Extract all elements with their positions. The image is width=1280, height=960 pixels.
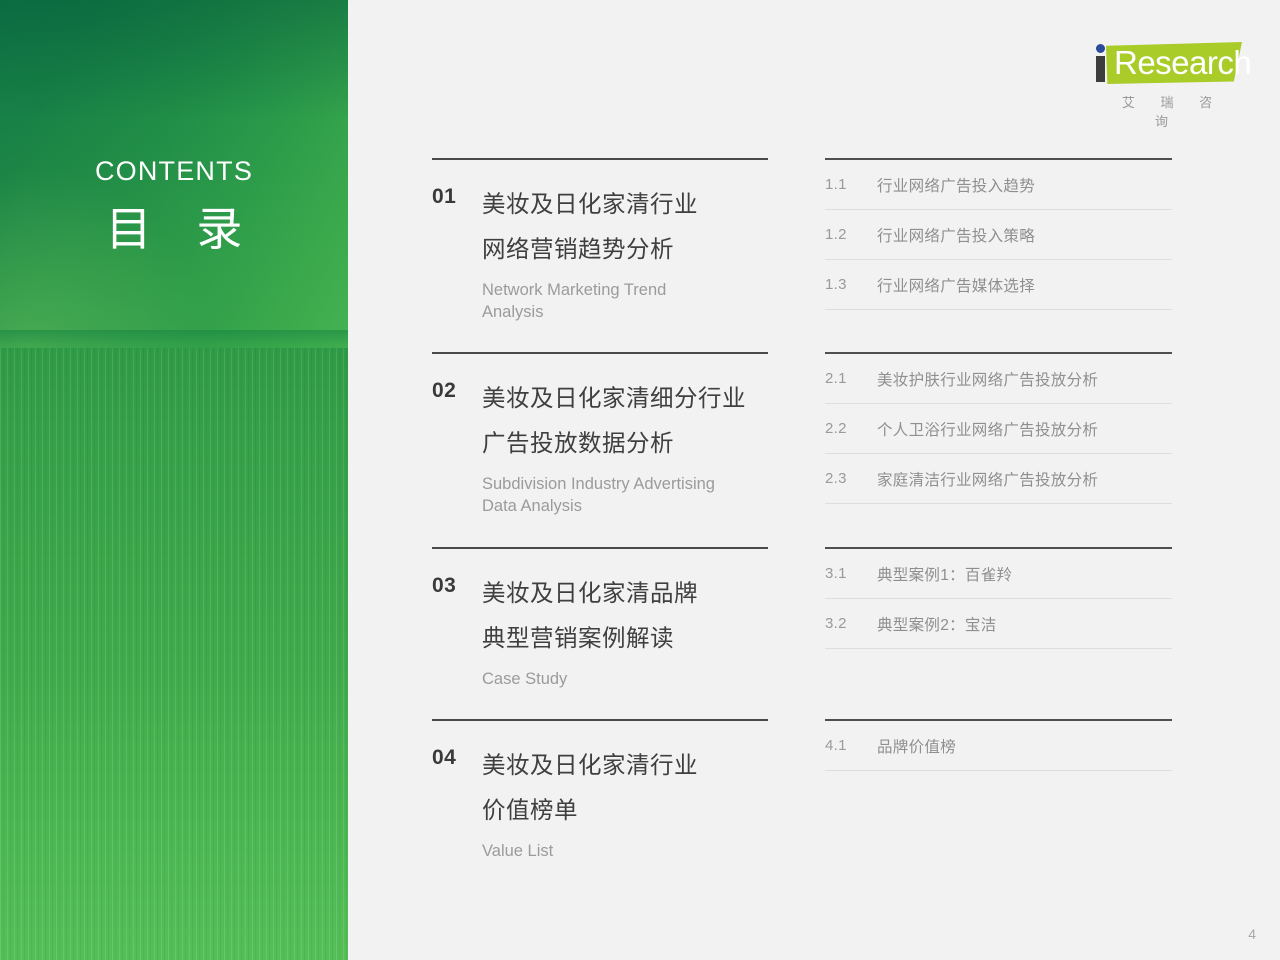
section-number: 04 [432, 743, 482, 862]
subitem-number: 1.1 [825, 176, 877, 193]
toc-section-02-items: 2.1 美妆护肤行业网络广告投放分析 2.2 个人卫浴行业网络广告投放分析 2.… [825, 352, 1172, 517]
contents-title-cn: 目 录 [0, 203, 348, 256]
toc-section-01-main[interactable]: 01 美妆及日化家清行业 网络营销趋势分析 Network Marketing … [432, 158, 768, 323]
logo-wordmark: Research [1114, 45, 1251, 81]
toc-subitem[interactable]: 2.1 美妆护肤行业网络广告投放分析 [825, 354, 1172, 404]
subitem-number: 2.1 [825, 370, 877, 387]
subitem-number: 1.2 [825, 226, 877, 243]
panel-top-shade [0, 0, 348, 120]
subitem-number: 2.3 [825, 470, 877, 487]
toc-section-03-main[interactable]: 03 美妆及日化家清品牌 典型营销案例解读 Case Study [432, 547, 768, 690]
subitem-label: 品牌价值榜 [877, 735, 956, 757]
section-number: 02 [432, 376, 482, 517]
table-of-contents: 01 美妆及日化家清行业 网络营销趋势分析 Network Marketing … [432, 158, 1172, 862]
toc-section-02-main[interactable]: 02 美妆及日化家清细分行业 广告投放数据分析 Subdivision Indu… [432, 352, 768, 517]
cover-green-panel: CONTENTS 目 录 [0, 0, 348, 960]
logo-i-dot-icon [1096, 44, 1105, 53]
toc-subitem[interactable]: 4.1 品牌价值榜 [825, 721, 1172, 771]
toc-subitem[interactable]: 3.2 典型案例2：宝洁 [825, 599, 1172, 649]
subitem-number: 2.2 [825, 420, 877, 437]
toc-section-04-items: 4.1 品牌价值榜 [825, 719, 1172, 862]
slide-root: CONTENTS 目 录 Research 艾 瑞 咨 询 01 美妆及日化家清… [0, 0, 1280, 960]
subitem-label: 家庭清洁行业网络广告投放分析 [877, 468, 1098, 490]
page-number: 4 [1248, 926, 1256, 942]
contents-title-block: CONTENTS 目 录 [0, 158, 348, 256]
toc-subitem[interactable]: 1.1 行业网络广告投入趋势 [825, 160, 1172, 210]
section-title-en-line1: Subdivision Industry Advertising [482, 473, 768, 495]
toc-section-03-items: 3.1 典型案例1：百雀羚 3.2 典型案例2：宝洁 [825, 547, 1172, 690]
contents-title-en: CONTENTS [0, 158, 348, 185]
section-title-cn-line1: 美妆及日化家清行业 [482, 743, 768, 788]
section-title-cn-line2: 网络营销趋势分析 [482, 227, 768, 272]
subitem-number: 3.1 [825, 565, 877, 582]
iresearch-logo: Research 艾 瑞 咨 询 [1092, 40, 1242, 118]
subitem-label: 行业网络广告投入趋势 [877, 174, 1035, 196]
toc-subitem[interactable]: 2.2 个人卫浴行业网络广告投放分析 [825, 404, 1172, 454]
section-title-en-line2: Data Analysis [482, 495, 768, 517]
toc-section-03: 03 美妆及日化家清品牌 典型营销案例解读 Case Study 3.1 典型案… [432, 547, 1172, 690]
section-title-cn-line2: 广告投放数据分析 [482, 421, 768, 466]
subitem-label: 典型案例1：百雀羚 [877, 563, 1012, 585]
subitem-number: 4.1 [825, 737, 877, 754]
pinstripe-pattern [0, 348, 348, 960]
logo-chinese-name: 艾 瑞 咨 询 [1092, 92, 1242, 130]
section-title-cn-line2: 价值榜单 [482, 788, 768, 833]
toc-subitem[interactable]: 1.2 行业网络广告投入策略 [825, 210, 1172, 260]
subitem-label: 行业网络广告投入策略 [877, 224, 1035, 246]
subitem-number: 1.3 [825, 276, 877, 293]
section-title-en-line2: Analysis [482, 301, 768, 323]
subitem-label: 个人卫浴行业网络广告投放分析 [877, 418, 1098, 440]
toc-section-02: 02 美妆及日化家清细分行业 广告投放数据分析 Subdivision Indu… [432, 352, 1172, 517]
section-title-en-line1: Network Marketing Trend [482, 279, 768, 301]
section-number: 01 [432, 182, 482, 323]
toc-section-04: 04 美妆及日化家清行业 价值榜单 Value List 4.1 品牌价值榜 [432, 719, 1172, 862]
logo-i-stem-icon [1096, 56, 1105, 82]
subitem-label: 典型案例2：宝洁 [877, 613, 997, 635]
section-number: 03 [432, 571, 482, 690]
toc-section-01-items: 1.1 行业网络广告投入趋势 1.2 行业网络广告投入策略 1.3 行业网络广告… [825, 158, 1172, 323]
logo-mark: Research [1092, 40, 1242, 86]
subitem-number: 3.2 [825, 615, 877, 632]
section-title-cn-line1: 美妆及日化家清细分行业 [482, 376, 768, 421]
section-title-en-line1: Case Study [482, 668, 768, 690]
toc-subitem[interactable]: 3.1 典型案例1：百雀羚 [825, 549, 1172, 599]
toc-subitem[interactable]: 1.3 行业网络广告媒体选择 [825, 260, 1172, 310]
toc-subitem[interactable]: 2.3 家庭清洁行业网络广告投放分析 [825, 454, 1172, 504]
toc-section-01: 01 美妆及日化家清行业 网络营销趋势分析 Network Marketing … [432, 158, 1172, 323]
section-title-en-line1: Value List [482, 840, 768, 862]
subitem-label: 行业网络广告媒体选择 [877, 274, 1035, 296]
section-title-cn-line2: 典型营销案例解读 [482, 616, 768, 661]
section-title-cn-line1: 美妆及日化家清行业 [482, 182, 768, 227]
subitem-label: 美妆护肤行业网络广告投放分析 [877, 368, 1098, 390]
section-title-cn-line1: 美妆及日化家清品牌 [482, 571, 768, 616]
toc-section-04-main[interactable]: 04 美妆及日化家清行业 价值榜单 Value List [432, 719, 768, 862]
